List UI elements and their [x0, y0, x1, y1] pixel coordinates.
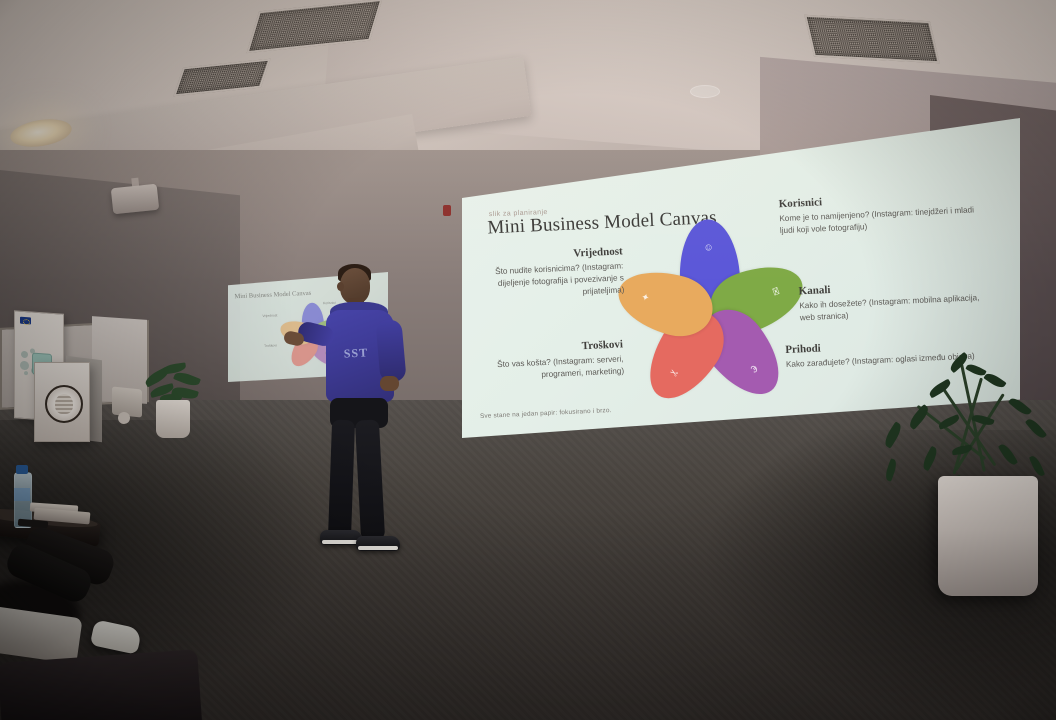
presenter-right-hand [380, 376, 399, 391]
ceiling-air-vent [804, 15, 940, 63]
plant-pot [938, 476, 1038, 596]
slide-body-korisnici: Kome je to namijenjeno? (Instagram: tine… [779, 204, 980, 237]
chair-base [118, 412, 130, 424]
smiley-icon: ☺ [703, 243, 714, 253]
audience-sneaker [90, 619, 142, 654]
bottle-cap [16, 465, 28, 474]
slide-block-troskovi: Troškovi Što vas košta? (Instagram: serv… [471, 338, 625, 384]
slide-body-troskovi: Što vas košta? (Instagram: serveri, prog… [471, 353, 624, 384]
eu-flag-icon [20, 317, 31, 325]
flower-diagram: ☺ ✉ € ✂ ✦ [620, 223, 804, 407]
hoodie-chest-text: SST [334, 345, 379, 362]
potted-plant-right [820, 358, 1056, 658]
slide-footer: Sve stane na jedan papir: fokusirano i b… [480, 407, 612, 420]
slide-block-korisnici: Korisnici Kome je to namijenjeno? (Insta… [778, 189, 980, 237]
slide-body-kanali: Kako ih dosežete? (Instagram: mobilna ap… [799, 292, 990, 324]
institution-emblem-icon [45, 385, 83, 423]
presenter: SST [300, 258, 430, 558]
ceiling-projector [111, 184, 159, 215]
secondary-label-vrijednost: Vrijednost [233, 313, 277, 320]
scissors-icon: ✂ [668, 365, 681, 378]
bottle-label [14, 488, 30, 501]
presenter-right-leg [355, 419, 385, 540]
presentation-room-photo: Mini Business Model Canvas Vrijednost Tr… [0, 0, 1056, 720]
podium [34, 362, 90, 442]
foreground-chair [0, 649, 203, 720]
presenter-right-arm [375, 319, 406, 383]
plant-pot [156, 400, 190, 438]
secondary-label-troskovi: Troškovi [231, 343, 277, 350]
smoke-detector-icon [690, 85, 720, 98]
slide-body-vrijednost: Što nudite korisnicima? (Instagram: dije… [475, 260, 624, 302]
presenter-right-shoe [356, 536, 400, 551]
potted-plant-left [140, 360, 210, 440]
slide-block-vrijednost: Vrijednost Što nudite korisnicima? (Inst… [475, 245, 625, 302]
foreground-audience-area [0, 460, 240, 720]
sparkle-icon: ✦ [641, 292, 653, 303]
euro-icon: € [748, 362, 759, 373]
envelope-icon: ✉ [768, 286, 780, 297]
wall-marker-icon [443, 205, 451, 216]
presenter-ear [337, 282, 344, 291]
slide-block-kanali: Kanali Kako ih dosežete? (Instagram: mob… [798, 277, 990, 324]
presenter-left-leg [328, 420, 355, 541]
